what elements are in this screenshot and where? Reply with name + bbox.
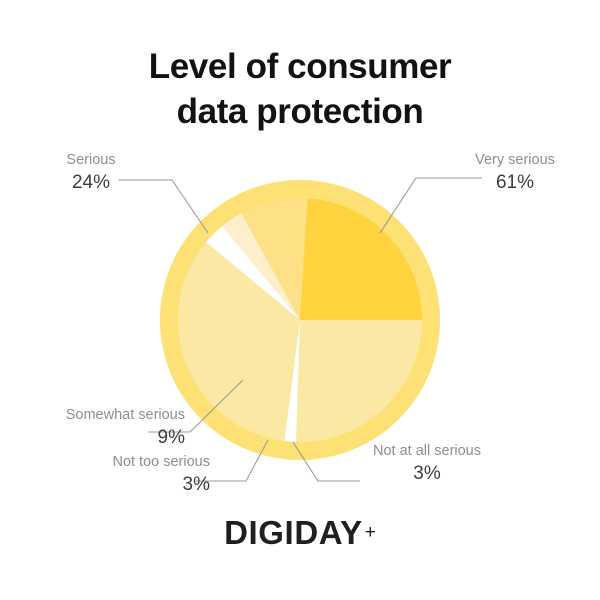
label-not-at-all-serious: Not at all serious 3% [352, 441, 502, 486]
label-not-too-serious-value: 3% [20, 472, 210, 497]
label-not-at-all-serious-value: 3% [352, 461, 502, 486]
label-not-too-serious: Not too serious 3% [20, 452, 210, 497]
digiday-logo-word: DIGIDAY [224, 514, 363, 551]
digiday-logo: DIGIDAY+ [0, 514, 600, 552]
label-not-too-serious-name: Not too serious [20, 452, 210, 472]
label-somewhat-serious-name: Somewhat serious [20, 405, 185, 425]
digiday-logo-plus: + [365, 522, 376, 543]
label-very-serious: Very serious 61% [455, 150, 575, 195]
pie-chart [0, 0, 600, 600]
label-somewhat-serious-value: 9% [20, 425, 185, 450]
pie-slice-serious[interactable] [300, 198, 422, 320]
label-serious-value: 24% [36, 170, 146, 195]
label-not-at-all-serious-name: Not at all serious [352, 441, 502, 461]
label-serious: Serious 24% [36, 150, 146, 195]
infographic-canvas: Level of consumer data protection [0, 0, 600, 600]
label-very-serious-value: 61% [455, 170, 575, 195]
label-serious-name: Serious [36, 150, 146, 170]
label-somewhat-serious: Somewhat serious 9% [20, 405, 185, 450]
label-very-serious-name: Very serious [455, 150, 575, 170]
